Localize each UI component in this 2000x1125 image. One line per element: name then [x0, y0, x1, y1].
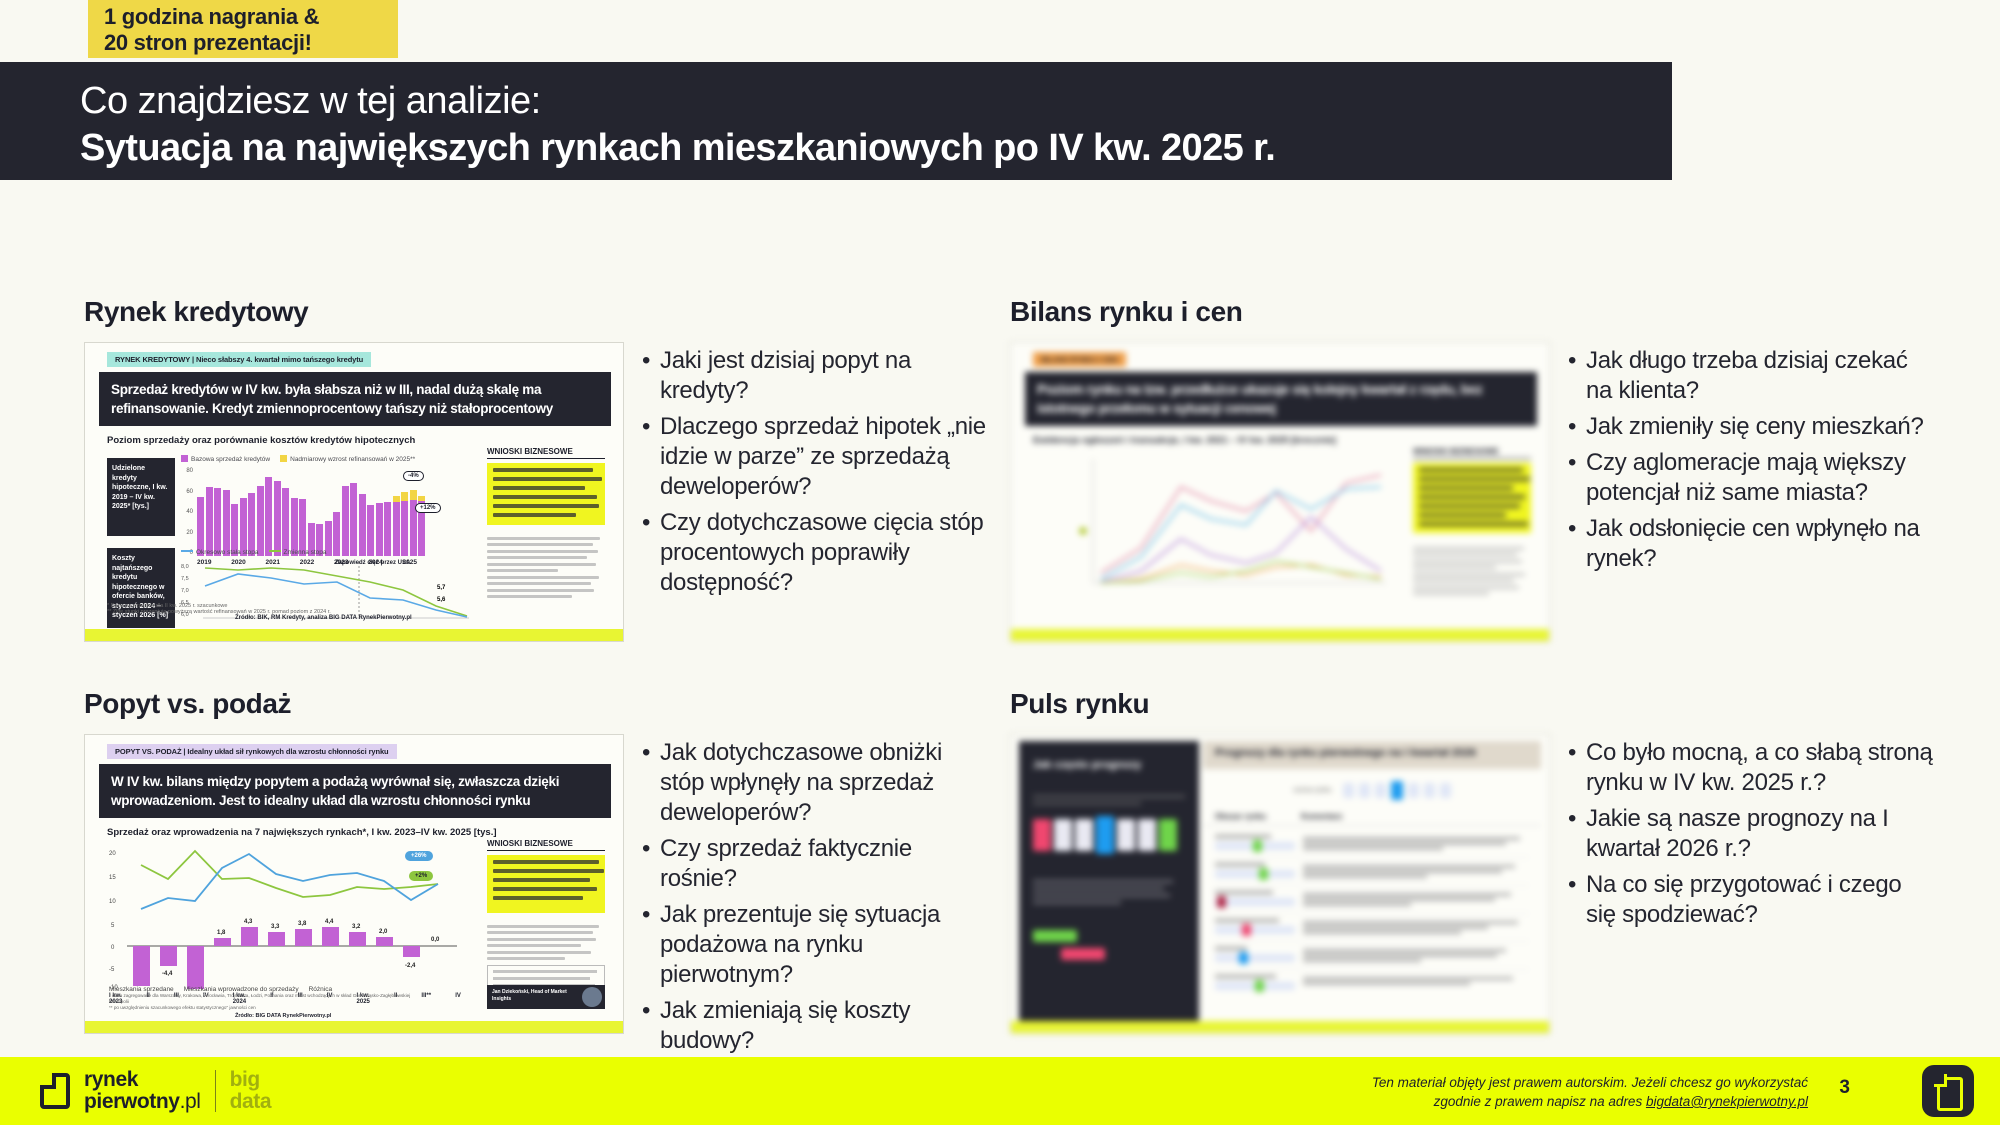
svg-text:0,0: 0,0: [431, 937, 440, 943]
section-title: Rynek kredytowy: [84, 296, 992, 328]
bar-chart-bars: [197, 468, 425, 556]
contact-email[interactable]: bigdata@rynekpierwotny.pl: [1646, 1094, 1808, 1109]
block-grey: [1117, 819, 1135, 851]
legend-item-bazowa: Bazowa sprzedaż kredytów: [181, 455, 270, 463]
promo-badge-line1: 1 godzina nagrania &: [104, 4, 398, 30]
panel-text: [1019, 864, 1199, 920]
svg-text:3,8: 3,8: [298, 921, 307, 927]
slide-tag: POPYT VS. PODAŻ | Idealny układ sił rynk…: [107, 744, 397, 759]
slide-bottom-strip: [85, 1021, 623, 1033]
table-row: [1215, 858, 1529, 886]
forecast-panel: Prognozy dla rynku pierwotnego na I kwar…: [1203, 741, 1541, 1021]
svg-text:5: 5: [111, 923, 115, 929]
wnioski-header: WNIOSKI BIZNESOWE: [487, 839, 605, 851]
svg-text:3,3: 3,3: [271, 924, 280, 930]
slide-headline: Sprzedaż kredytów w IV kw. była słabsza …: [99, 372, 611, 426]
block-grey: [1075, 819, 1093, 851]
svg-text:-5: -5: [109, 967, 115, 973]
bullet-item: Jak odsłonięcie cen wpłynęło na rynek?: [1566, 514, 1934, 574]
scale-widget: ocena rynku: [1203, 769, 1541, 808]
wnioski-highlight-box: [487, 463, 605, 525]
line-chart-legend: Okresowo stała stopa Zmienna stopa: [181, 549, 481, 556]
svg-text:10: 10: [109, 899, 116, 905]
slide-bottom-strip: [1011, 629, 1549, 641]
block-green: [1159, 819, 1177, 851]
panel-title: Jak często prognozy: [1019, 741, 1199, 773]
slide-tag: BILANS RYNKU I CEN: [1033, 352, 1126, 367]
bullet-list-puls-rynku: Co było mocną, a co słabą stroną rynku w…: [1566, 734, 1934, 936]
slide-subline: Ewidencja ogłoszeń i transakcje, I kw. 2…: [1033, 435, 1463, 446]
footer-bar: rynek pierwotny.pl bigdata Ten materiał …: [0, 1057, 2000, 1125]
tag-pink: [1061, 948, 1105, 960]
table-row: [1215, 970, 1529, 995]
chart-footnotes: * Dane za wrzesień dla II kw. 2025 r. sz…: [107, 603, 331, 615]
bullet-list-rynek-kredytowy: Jaki jest dzisiaj popyt na kredyty? Dlac…: [640, 342, 992, 604]
wnioski-body-text: [1413, 543, 1531, 599]
svg-text:7,0: 7,0: [181, 588, 189, 594]
svg-text:4,4: 4,4: [325, 919, 334, 925]
svg-text:3,2: 3,2: [352, 924, 361, 930]
section-title: Bilans rynku i cen: [1010, 296, 1934, 328]
forecast-title: Prognozy dla rynku pierwotnego na I kwar…: [1203, 741, 1541, 769]
svg-text:8,0: 8,0: [181, 564, 189, 570]
page-number: 3: [1839, 1077, 1850, 1099]
brand-logo[interactable]: rynek pierwotny.pl bigdata: [40, 1069, 271, 1113]
line-label-2: 5,6: [437, 597, 445, 603]
line-label-1: 5,7: [437, 585, 445, 591]
chart-side-label-2: Koszty najtańszego kredytu hipotecznego …: [107, 548, 175, 628]
section-popyt-vs-podaz: Popyt vs. podaż POPYT VS. PODAŻ | Idealn…: [84, 688, 992, 1062]
chart-source: Źródło: BIG DATA RynekPierwotny.pl: [235, 1013, 331, 1019]
block-red: [1033, 819, 1051, 851]
bullet-item: Jakie są nasze prognozy na I kwartał 202…: [1566, 804, 1934, 864]
combo-pill-2: +2%: [409, 871, 433, 881]
bullet-item: Czy dotychczasowe cięcia stóp procentowy…: [640, 508, 992, 598]
bullet-item: Jaki jest dzisiaj popyt na kredyty?: [640, 346, 992, 406]
slide-thumbnail-bilans-rynku[interactable]: BILANS RYNKU I CEN Poziom rynku na tzw. …: [1010, 342, 1550, 642]
bar-chart-yaxis: 806040200: [181, 468, 193, 556]
bullet-list-popyt-vs-podaz: Jak dotychczasowe obniżki stóp wpłynęły …: [640, 734, 992, 1062]
bullet-item: Jak zmieniły się ceny mieszkań?: [1566, 412, 1934, 442]
avatar: [582, 987, 602, 1007]
bar-chart-legend: Bazowa sprzedaż kredytów Nadmiarowy wzro…: [181, 455, 481, 463]
sentiment-blocks: [1019, 809, 1199, 864]
bullet-item: Jak prezentuje się sytuacja podażowa na …: [640, 900, 992, 990]
svg-text:1,8: 1,8: [217, 930, 226, 936]
bullet-item: Co było mocną, a co słabą stroną rynku w…: [1566, 738, 1934, 798]
bigdata-wordmark: bigdata: [230, 1069, 272, 1113]
mini-multiline-chart: [1061, 453, 1391, 603]
table-header: Obszar rynku Komentarz: [1203, 808, 1541, 826]
wnioski-body-text: [487, 533, 605, 602]
table-row: [1215, 830, 1529, 858]
svg-text:7,5: 7,5: [181, 576, 189, 582]
table-row: [1215, 886, 1529, 914]
legend-item-stala: Okresowo stała stopa: [181, 549, 259, 556]
legend-item-sprzedane: Mieszkania sprzedane: [109, 986, 174, 993]
slide-thumbnail-rynek-kredytowy[interactable]: RYNEK KREDYTOWY | Nieco słabszy 4. kwart…: [84, 342, 624, 642]
chart-side-label-1: Udzielone kredyty hipoteczne, I kw. 2019…: [107, 458, 175, 536]
block-grey: [1054, 819, 1072, 851]
block-blue: [1096, 816, 1114, 854]
svg-text:4,3: 4,3: [244, 919, 253, 925]
wnioski-header: WNIOSKI BIZNESOWE: [487, 447, 605, 459]
bullet-list-bilans-rynku: Jak długo trzeba dzisiaj czekać na klien…: [1566, 342, 1934, 580]
logo-wordmark: rynek pierwotny.pl: [84, 1069, 201, 1113]
legend-item-wprowadzone: Mieszkania wprowadzone do sprzedaży: [184, 986, 299, 993]
line-chart-annotation: Zapowiedź cięć przez USA: [335, 559, 410, 568]
slide-thumbnail-puls-rynku[interactable]: Jak często prognozy: [1010, 734, 1550, 1034]
promo-badge-line2: 20 stron prezentacji!: [104, 30, 398, 56]
legend-item-roznica: Różnica: [309, 986, 332, 993]
bullet-item: Czy sprzedaż faktycznie rośnie?: [640, 834, 992, 894]
slide-subline: Poziom sprzedaży oraz porównanie kosztów…: [107, 435, 537, 446]
svg-text:0: 0: [111, 945, 115, 951]
block-grey: [1138, 819, 1156, 851]
copyright-note: Ten materiał objęty jest prawem autorski…: [1372, 1073, 1808, 1111]
legend-item-refinansowania: Nadmiarowy wzrost refinansowań w 2025**: [280, 455, 415, 463]
bullet-item: Jak długo trzeba dzisiaj czekać na klien…: [1566, 346, 1934, 406]
page-title: Sytuacja na największych rynkach mieszka…: [80, 124, 1672, 172]
slide-page: 1 godzina nagrania & 20 stron prezentacj…: [0, 0, 2000, 1125]
svg-text:2,0: 2,0: [379, 929, 388, 935]
bar-pill-2: +12%: [415, 503, 441, 513]
logo-divider: [215, 1070, 216, 1112]
table-row: [1215, 914, 1529, 942]
bullet-item: Dlaczego sprzedaż hipotek „nie idzie w p…: [640, 412, 992, 502]
combo-pill-1: +26%: [405, 851, 433, 861]
section-title: Popyt vs. podaż: [84, 688, 992, 720]
slide-bottom-strip: [1011, 1021, 1549, 1033]
section-bilans-rynku-i-cen: Bilans rynku i cen BILANS RYNKU I CEN Po…: [1010, 296, 1934, 642]
legend-item-zmienna: Zmienna stopa: [269, 549, 327, 556]
slide-subline: Sprzedaż oraz wprowadzenia na 7 najwięks…: [107, 827, 577, 838]
logo-mark-icon: [40, 1073, 70, 1109]
svg-text:-4,4: -4,4: [162, 971, 173, 977]
bullet-item: Jak zmieniają się koszty budowy?: [640, 996, 992, 1056]
svg-text:20: 20: [109, 851, 116, 857]
section-title: Puls rynku: [1010, 688, 1934, 720]
section-rynek-kredytowy: Rynek kredytowy RYNEK KREDYTOWY | Nieco …: [84, 296, 992, 642]
slide-headline: Poziom rynku na tzw. przedłużce ukazuje …: [1025, 372, 1537, 426]
tag-green: [1033, 930, 1077, 942]
bullet-item: Na co się przygotować i czego się spodzi…: [1566, 870, 1934, 930]
wnioski-highlight-box: [1413, 463, 1531, 533]
bullet-item: Jak dotychczasowe obniżki stóp wpłynęły …: [640, 738, 992, 828]
table-row: [1215, 942, 1529, 970]
combo-chart-legend: Mieszkania sprzedane Mieszkania wprowadz…: [109, 986, 332, 993]
slide-thumbnail-popyt-vs-podaz[interactable]: POPYT VS. PODAŻ | Idealny układ sił rynk…: [84, 734, 624, 1034]
promo-badge: 1 godzina nagrania & 20 stron prezentacj…: [88, 0, 398, 58]
slide-bottom-strip: [85, 629, 623, 641]
author-strip: Jan Dziekoński, Head of Market Insights: [487, 985, 605, 1009]
bar-pill-1: -4%: [403, 471, 424, 481]
wnioski-header: WNIOSKI BIZNESOWE: [1413, 447, 1531, 459]
corner-logo-icon: [1922, 1065, 1974, 1117]
wnioski-highlight-box: [487, 855, 605, 913]
svg-text:15: 15: [109, 875, 116, 881]
bullet-item: Czy aglomeracje mają większy potencjał n…: [1566, 448, 1934, 508]
chart-footnotes: * dane zagregowane dla Warszawy, Krakowa…: [109, 993, 429, 1011]
slide-tag: RYNEK KREDYTOWY | Nieco słabszy 4. kwart…: [107, 352, 371, 367]
slide-headline: W IV kw. bilans między popytem a podażą …: [99, 764, 611, 818]
section-puls-rynku: Puls rynku Jak często prognozy: [1010, 688, 1934, 1034]
svg-text:-2,4: -2,4: [405, 963, 416, 969]
header-subtitle: Co znajdziesz w tej analizie:: [80, 78, 1672, 124]
wnioski-body-text: [487, 921, 605, 964]
mini-combo-chart: 20 15 10 5 0 -5 -10: [109, 843, 461, 993]
header-banner: Co znajdziesz w tej analizie: Sytuacja n…: [0, 62, 1672, 180]
chart-source: Źródło: BIK, RM Kredyty, analiza BIG DAT…: [235, 615, 412, 621]
dark-panel: Jak często prognozy: [1019, 741, 1199, 1021]
forecast-rows: [1203, 826, 1541, 999]
